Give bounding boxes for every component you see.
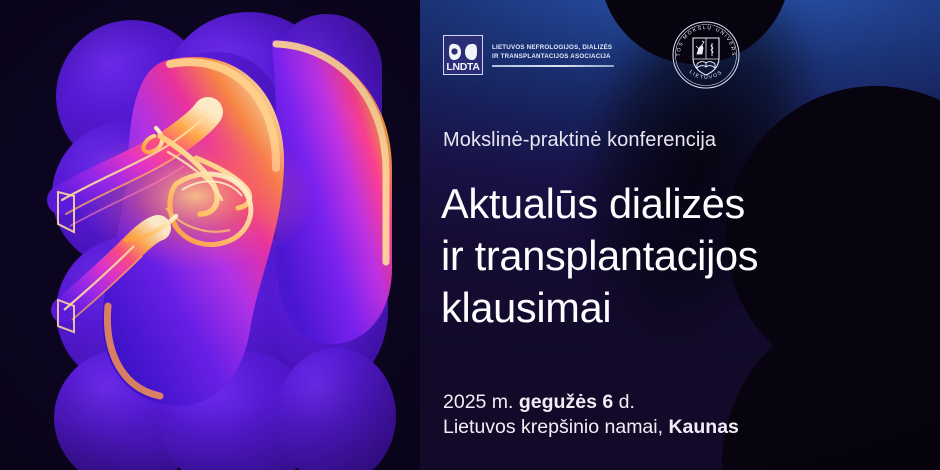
- venue-city: Kaunas: [668, 416, 738, 438]
- conference-kicker: Mokslinė-praktinė konferencija: [443, 129, 716, 152]
- lndta-kidney-logo-icon: LNDTA: [443, 35, 483, 75]
- lsmu-university-seal-icon: SVEIKATOS MOKSLŲ UNIVERSITETAS LIETUVOS: [669, 18, 743, 92]
- lndta-name-line-1: LIETUVOS NEFROLOGIJOS, DIALIZĖS: [492, 44, 614, 53]
- lndta-logo[interactable]: LNDTA LIETUVOS NEFROLOGIJOS, DIALIZĖS IR…: [443, 35, 614, 75]
- svg-text:LNDTA: LNDTA: [446, 61, 480, 73]
- logo-row: LNDTA LIETUVOS NEFROLOGIJOS, DIALIZĖS IR…: [443, 26, 743, 84]
- date-prefix: 2025 m.: [443, 391, 519, 413]
- event-details: 2025 m. gegužės 6 d. Lietuvos krepšinio …: [443, 390, 739, 440]
- kidney-neon-artwork: [0, 0, 420, 470]
- event-venue: Lietuvos krepšinio namai, Kaunas: [443, 415, 739, 440]
- date-suffix: d.: [613, 391, 635, 413]
- title-line-3: klausimai: [441, 282, 911, 334]
- event-date: 2025 m. gegužės 6 d.: [443, 390, 739, 415]
- page-title: Aktualūs dializės ir transplantacijos kl…: [441, 178, 911, 334]
- date-emphasis: gegužės 6: [519, 391, 613, 413]
- neon-kidney-illustration: [0, 0, 420, 470]
- conference-banner: LNDTA LIETUVOS NEFROLOGIJOS, DIALIZĖS IR…: [0, 0, 940, 470]
- lsmu-logo[interactable]: SVEIKATOS MOKSLŲ UNIVERSITETAS LIETUVOS: [669, 18, 743, 92]
- venue-prefix: Lietuvos krepšinio namai,: [443, 416, 668, 438]
- title-line-2: ir transplantacijos: [441, 230, 911, 282]
- lndta-name-line-2: IR TRANSPLANTACIJOS ASOCIACIJA: [492, 53, 614, 62]
- title-line-1: Aktualūs dializės: [441, 178, 911, 230]
- logo-divider-rule: [492, 65, 614, 67]
